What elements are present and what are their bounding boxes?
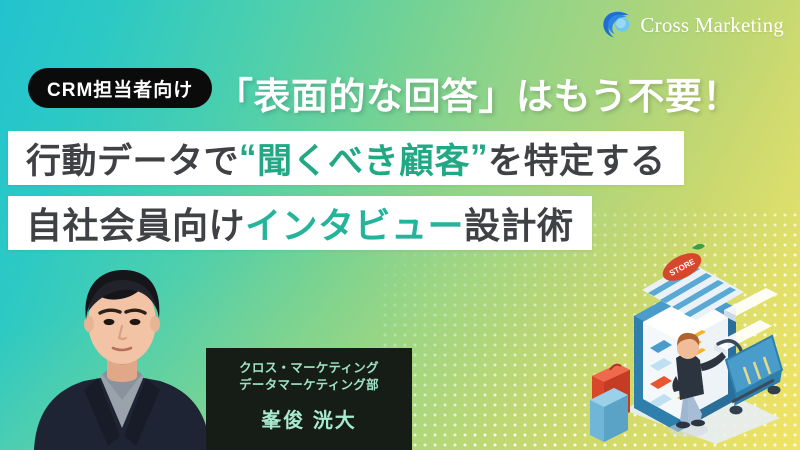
headline-line-3: 自社会員向けインタビュー設計術 [8, 196, 592, 250]
headline-line-3-part1: 自社会員向け [26, 197, 245, 249]
shopping-bags-icon [590, 364, 630, 442]
quote-open: “ [239, 138, 257, 178]
cross-marketing-swoosh-icon [601, 10, 633, 40]
quote-close: ” [470, 138, 488, 178]
webinar-banner: Cross Marketing CRM担当者向け 「表面的な回答」はもう不要！ … [0, 0, 800, 450]
headline-line-2-part2: を特定する [488, 133, 666, 184]
speaker-name: 峯俊 洸大 [261, 404, 357, 433]
headline-line-2-part1: 行動データで [26, 133, 239, 184]
headline-line-3-highlight: インタビュー [245, 197, 464, 249]
speaker-portrait [22, 250, 222, 450]
brand-logo: Cross Marketing [601, 10, 784, 40]
audience-badge: CRM担当者向け [28, 68, 212, 108]
speaker-org-line-1: クロス・マーケティング [239, 360, 379, 377]
speaker-card: クロス・マーケティング データマーケティング部 峯俊 洸大 [206, 348, 412, 450]
headline-line-2-highlight: 聞くべき顧客 [257, 133, 470, 184]
logo-text: Cross Marketing [640, 13, 784, 38]
isometric-ecommerce-illustration: STORE [584, 224, 798, 444]
speaker-org-line-2: データマーケティング部 [239, 377, 379, 394]
headline-line-3-part2: 設計術 [464, 197, 574, 249]
headline-line-1: 「表面的な回答」はもう不要！ [216, 66, 740, 120]
headline-line-2: 行動データで“聞くべき顧客”を特定する [8, 131, 684, 185]
